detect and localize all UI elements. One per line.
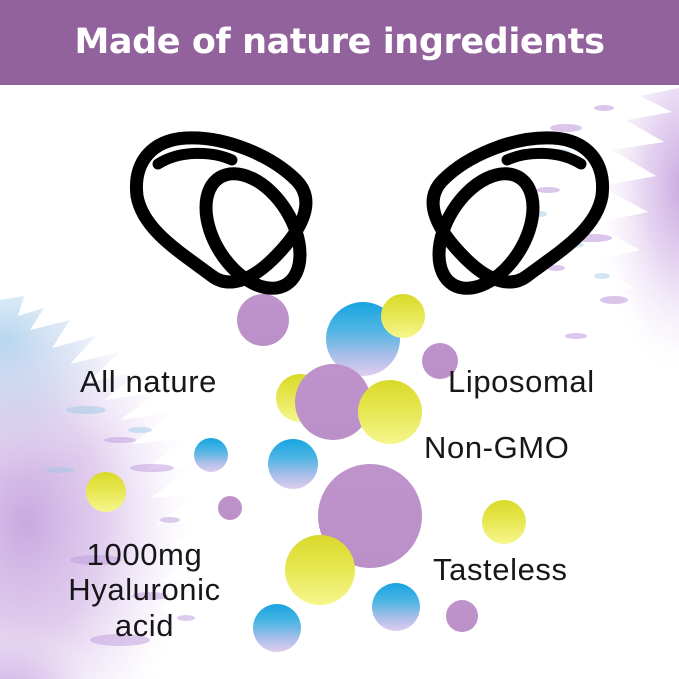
bubble-purple [295, 364, 371, 440]
capsule-right-icon [420, 138, 603, 305]
bubble-yellow [358, 380, 422, 444]
feature-label-liposomal: Liposomal [448, 364, 595, 399]
bubble-yellow [482, 500, 526, 544]
feature-label-tasteless: Tasteless [433, 552, 568, 587]
nature-ingredients-infographic: Made of nature ingredients [0, 0, 679, 679]
page-title: Made of nature ingredients [74, 25, 604, 60]
bubble-yellow [285, 535, 355, 605]
bubble-purple [218, 496, 242, 520]
header-band: Made of nature ingredients [0, 0, 679, 85]
feature-label-dosage: 1000mg Hyaluronic acid [22, 537, 267, 643]
feature-label-non-gmo: Non-GMO [424, 430, 569, 465]
bubble-blue [268, 439, 318, 489]
bubble-yellow [86, 472, 126, 512]
bubble-purple [446, 600, 478, 632]
capsule-pills-icon [0, 96, 679, 306]
bubble-blue [372, 583, 420, 631]
feature-label-all-nature: All nature [80, 364, 217, 399]
capsule-left-icon [136, 138, 319, 305]
bubble-blue [194, 438, 228, 472]
